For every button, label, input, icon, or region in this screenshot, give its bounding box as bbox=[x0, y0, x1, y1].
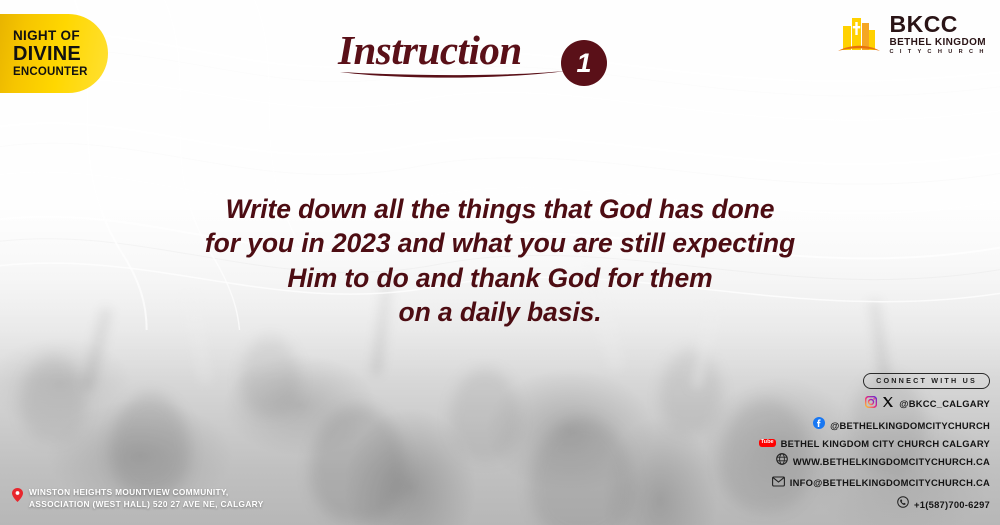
social-row-youtube[interactable]: Tube BETHEL KINGDOM CITY CHURCH CALGARY bbox=[759, 438, 990, 449]
message-line-4: on a daily basis. bbox=[135, 295, 865, 329]
connect-header: CONNECT WITH US bbox=[863, 373, 990, 389]
svg-text:Instruction: Instruction bbox=[337, 27, 522, 73]
social-row-facebook[interactable]: @BETHELKINGDOMCITYCHURCH bbox=[759, 416, 990, 434]
event-badge-line-1: NIGHT OF bbox=[13, 29, 108, 43]
church-acronym: BKCC bbox=[889, 13, 986, 36]
message-line-3: Him to do and thank God for them bbox=[135, 261, 865, 295]
church-logo-mark-icon bbox=[836, 10, 882, 58]
message-line-2: for you in 2023 and what you are still e… bbox=[135, 226, 865, 260]
social-row-website[interactable]: WWW.BETHELKINGDOMCITYCHURCH.CA bbox=[759, 452, 990, 470]
phone-icon[interactable] bbox=[897, 495, 909, 513]
x-twitter-icon[interactable] bbox=[882, 395, 894, 413]
event-name-badge: NIGHT OF DIVINE ENCOUNTER bbox=[0, 14, 108, 93]
phone-number: +1(587)700-6297 bbox=[914, 499, 990, 510]
social-row-instagram-x[interactable]: @BKCC_CALGARY bbox=[759, 395, 990, 413]
venue-address-line-1: WINSTON HEIGHTS MOUNTVIEW COMMUNITY, bbox=[29, 487, 229, 497]
youtube-icon[interactable]: Tube bbox=[759, 439, 776, 447]
message-line-1: Write down all the things that God has d… bbox=[135, 192, 865, 226]
church-logo-text: BKCC BETHEL KINGDOM C I T Y C H U R C H bbox=[889, 13, 986, 56]
email-icon[interactable] bbox=[772, 474, 785, 492]
instruction-number: 1 bbox=[576, 50, 591, 77]
email-address: INFO@BETHELKINGDOMCITYCHURCH.CA bbox=[790, 477, 990, 488]
instruction-message: Write down all the things that God has d… bbox=[135, 192, 865, 330]
venue-address-line-2: ASSOCIATION (WEST HALL) 520 27 AVE NE, C… bbox=[29, 499, 264, 509]
website-url: WWW.BETHELKINGDOMCITYCHURCH.CA bbox=[793, 456, 990, 467]
event-badge-line-3: ENCOUNTER bbox=[13, 66, 108, 78]
venue-address: WINSTON HEIGHTS MOUNTVIEW COMMUNITY, ASS… bbox=[12, 487, 264, 511]
event-badge-line-2: DIVINE bbox=[13, 44, 108, 64]
location-pin-icon bbox=[12, 488, 23, 507]
connect-block: CONNECT WITH US bbox=[759, 370, 990, 514]
instagram-x-handle: @BKCC_CALGARY bbox=[899, 398, 990, 409]
social-row-phone[interactable]: +1(587)700-6297 bbox=[759, 495, 990, 513]
church-name: BETHEL KINGDOM bbox=[889, 38, 986, 48]
facebook-handle: @BETHELKINGDOMCITYCHURCH bbox=[830, 420, 990, 431]
instagram-icon[interactable] bbox=[865, 395, 877, 413]
flyer-canvas: NIGHT OF DIVINE ENCOUNTER Instruction 1 … bbox=[0, 0, 1000, 525]
social-row-email[interactable]: INFO@BETHELKINGDOMCITYCHURCH.CA bbox=[759, 474, 990, 492]
facebook-icon[interactable] bbox=[813, 416, 825, 434]
venue-address-text: WINSTON HEIGHTS MOUNTVIEW COMMUNITY, ASS… bbox=[29, 487, 264, 511]
youtube-channel: BETHEL KINGDOM CITY CHURCH CALGARY bbox=[781, 438, 990, 449]
church-tagline: C I T Y C H U R C H bbox=[889, 50, 986, 56]
church-logo: BKCC BETHEL KINGDOM C I T Y C H U R C H bbox=[836, 10, 986, 58]
globe-icon[interactable] bbox=[776, 452, 788, 470]
instruction-number-badge: 1 bbox=[561, 40, 607, 86]
